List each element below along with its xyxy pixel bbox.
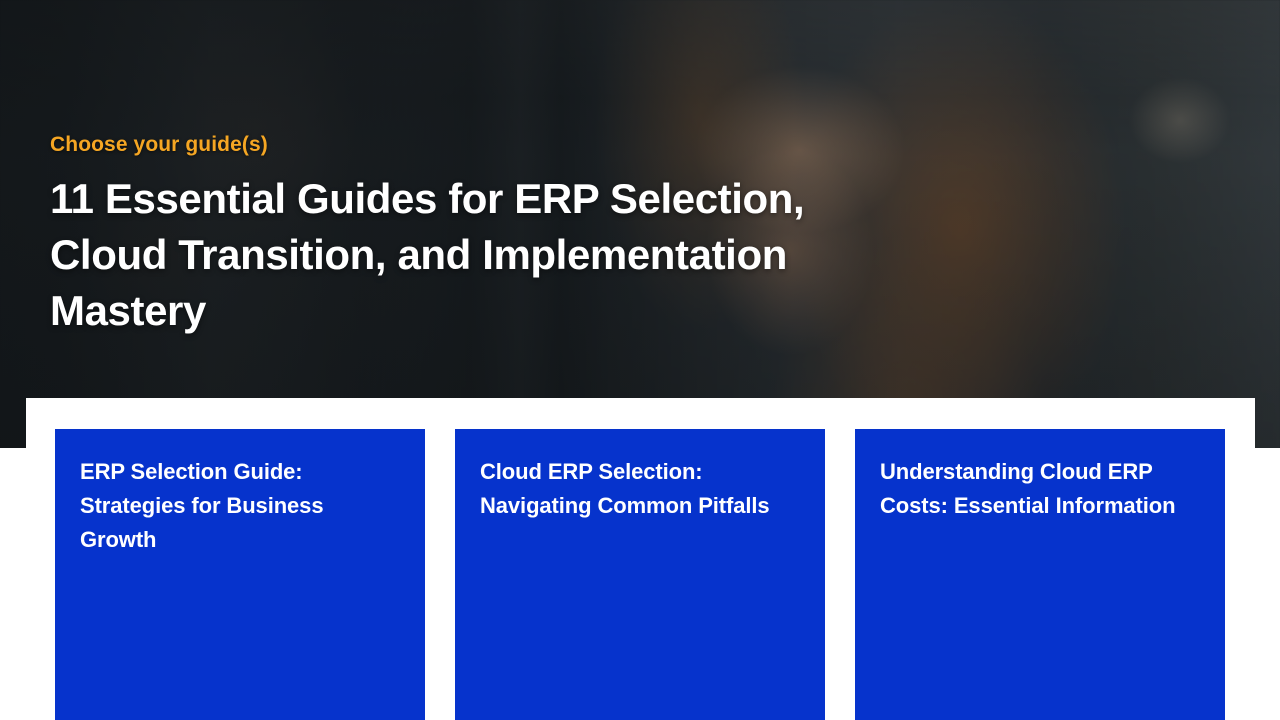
guide-card-title: ERP Selection Guide: Strategies for Busi…: [80, 455, 400, 557]
guide-card[interactable]: ERP Selection Guide: Strategies for Busi…: [55, 429, 425, 720]
guide-card-grid: ERP Selection Guide: Strategies for Busi…: [55, 429, 1225, 720]
guide-card-title: Understanding Cloud ERP Costs: Essential…: [880, 455, 1200, 523]
page-title: 11 Essential Guides for ERP Selection, C…: [50, 171, 810, 339]
hero-banner: Choose your guide(s) 11 Essential Guides…: [0, 0, 1280, 448]
hero-eyebrow: Choose your guide(s): [50, 130, 810, 160]
hero-content: Choose your guide(s) 11 Essential Guides…: [50, 130, 810, 339]
guide-card[interactable]: Cloud ERP Selection: Navigating Common P…: [455, 429, 825, 720]
guide-card-title: Cloud ERP Selection: Navigating Common P…: [480, 455, 800, 523]
landing-page: Choose your guide(s) 11 Essential Guides…: [0, 0, 1280, 720]
guide-card[interactable]: Understanding Cloud ERP Costs: Essential…: [855, 429, 1225, 720]
